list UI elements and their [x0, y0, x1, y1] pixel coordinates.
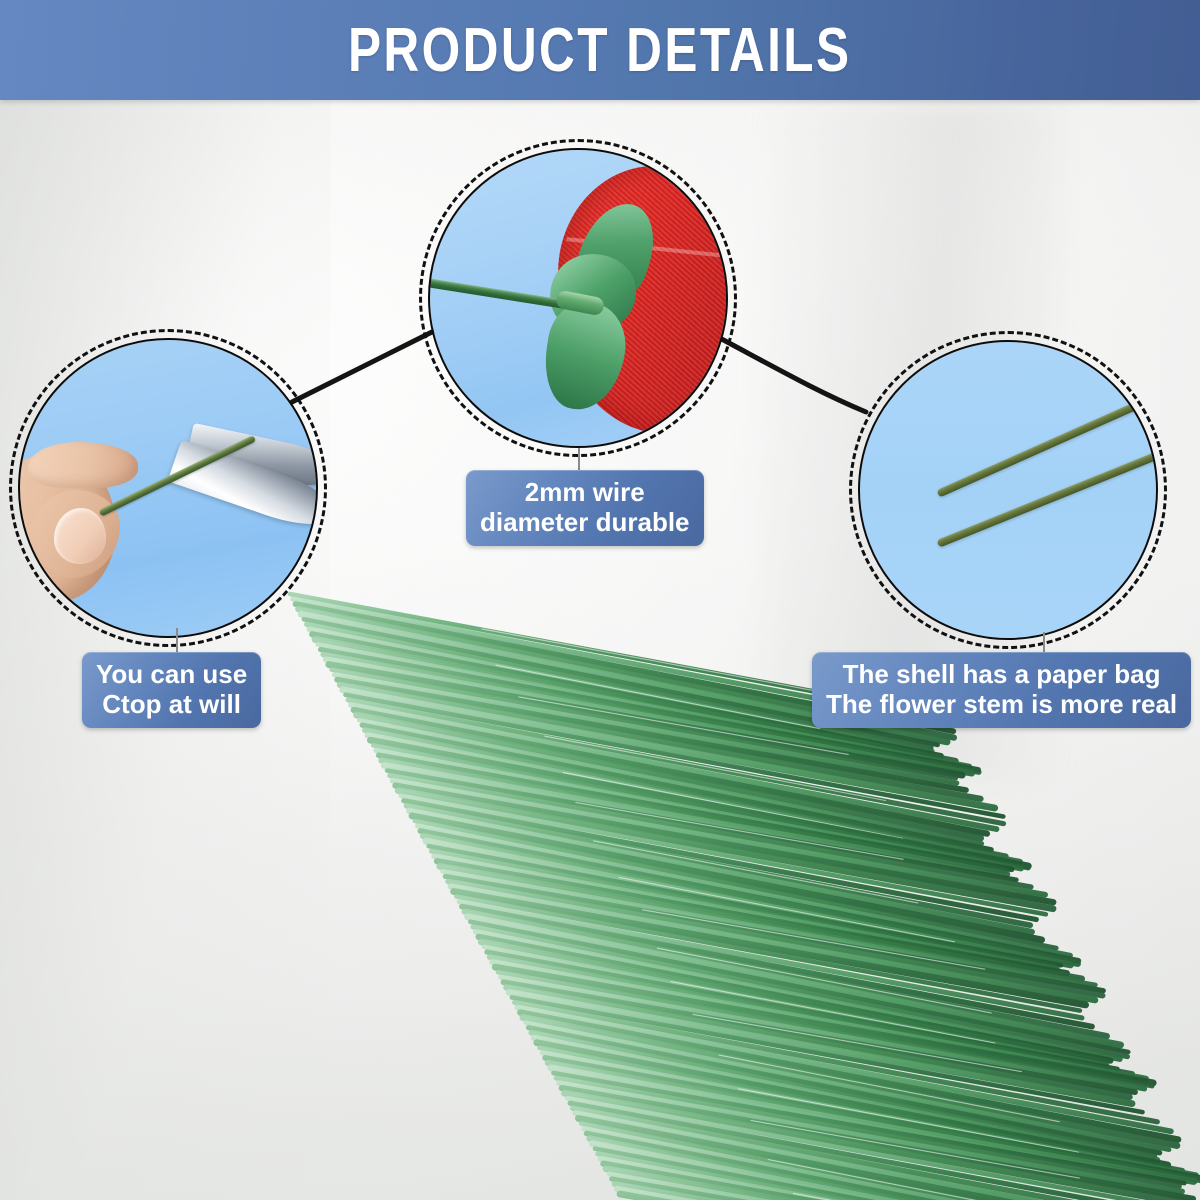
label-2mm-wire-diameter: 2mm wire diameter durable [466, 470, 704, 546]
header-banner: PRODUCT DETAILS [0, 0, 1200, 100]
label-stem-center [578, 448, 580, 472]
label-shell-paper-bag: The shell has a paper bag The flower ste… [812, 652, 1191, 728]
solid-ring-icon [428, 148, 728, 448]
label-you-can-use-ctop: You can use Ctop at will [82, 652, 261, 728]
inset-rose-head-stem [428, 148, 728, 448]
product-details-infographic: PRODUCT DETAILS [0, 0, 1200, 1200]
page-title: PRODUCT DETAILS [348, 15, 852, 86]
